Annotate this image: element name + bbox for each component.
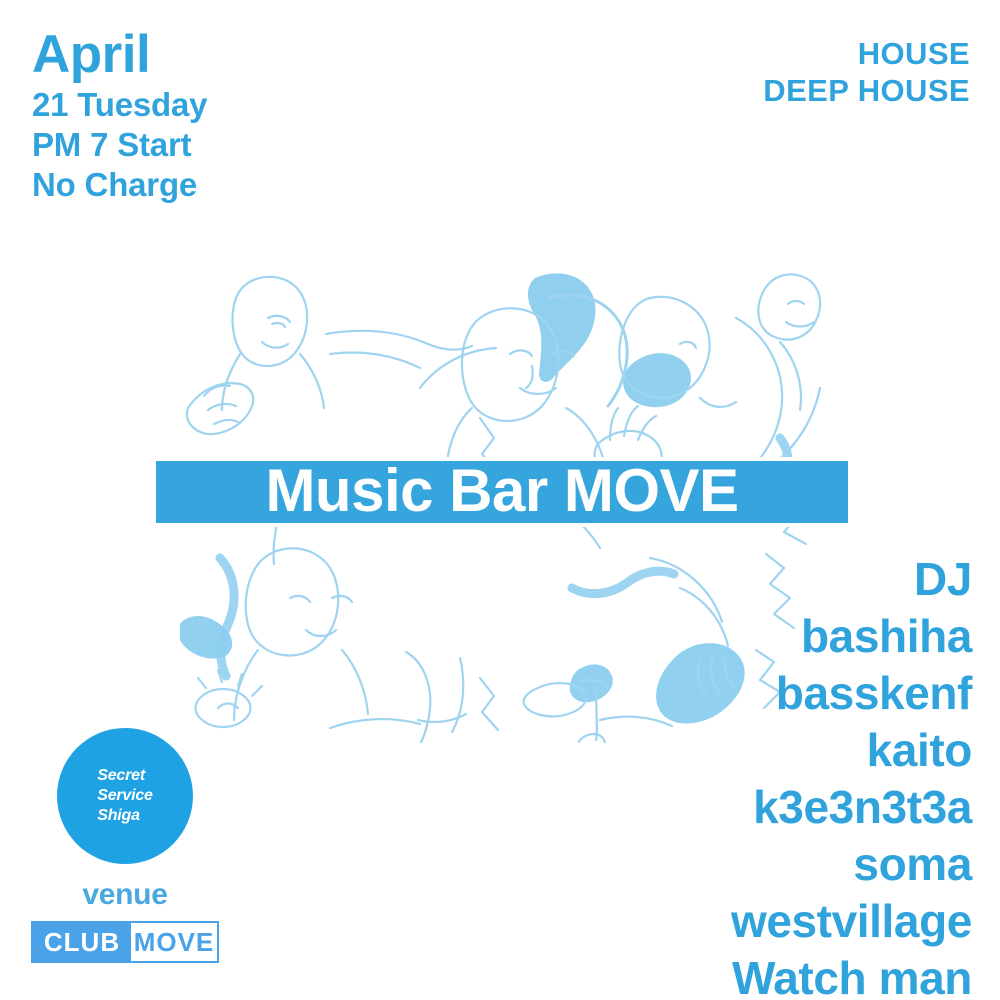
logo-club-text: CLUB [33, 923, 131, 961]
lineup-artist: k3e3n3t3a [731, 784, 972, 830]
lineup-artist: bashiha [731, 613, 972, 659]
lineup-artist: Watch man [731, 955, 972, 1000]
lineup-artist: westvillage [731, 898, 972, 944]
event-title: Music Bar MOVE [265, 461, 738, 521]
logo-move-text: MOVE [131, 923, 217, 961]
event-time: PM 7 Start [32, 128, 207, 161]
lineup-artist: basskenf [731, 670, 972, 716]
venue-label: venue [30, 878, 220, 912]
genre-primary: HOUSE [763, 36, 970, 73]
genre-block: HOUSE DEEP HOUSE [763, 36, 970, 109]
event-flyer: April 21 Tuesday PM 7 Start No Charge HO… [0, 0, 1000, 1000]
dj-lineup: DJ bashiha basskenf kaito k3e3n3t3a soma… [731, 556, 972, 1000]
title-banner: Music Bar MOVE [152, 457, 852, 527]
badge-line-2: Service [97, 786, 153, 806]
club-move-logo: CLUB MOVE [31, 921, 219, 963]
event-day: 21 Tuesday [32, 88, 207, 121]
genre-secondary: DEEP HOUSE [763, 73, 970, 110]
badge-text: Secret Service Shiga [97, 766, 153, 826]
event-month: April [32, 28, 207, 81]
badge-line-3: Shiga [97, 806, 153, 826]
date-block: April 21 Tuesday PM 7 Start No Charge [32, 28, 207, 201]
event-price: No Charge [32, 168, 207, 201]
lineup-artist: soma [731, 841, 972, 887]
secret-service-badge: Secret Service Shiga [57, 728, 193, 864]
lineup-artist: kaito [731, 727, 972, 773]
badge-line-1: Secret [97, 766, 153, 786]
lineup-heading: DJ [731, 556, 972, 602]
